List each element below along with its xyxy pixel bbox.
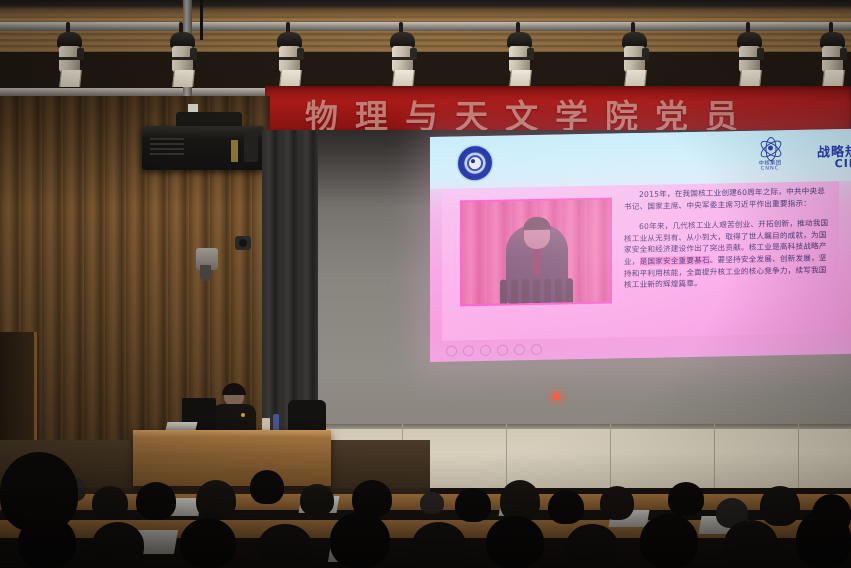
slide-paragraph-2: 60年来，几代核工业人艰苦创业、开拓创新，推动我国核工业从无到有、从小到大，取得… <box>624 217 832 291</box>
slide-slogan-en: CIN <box>835 157 851 170</box>
institution-seal-icon <box>458 146 492 181</box>
pointer-icon[interactable] <box>463 345 474 356</box>
ceiling-truss-upper <box>0 22 851 31</box>
ceiling-projector <box>142 126 264 170</box>
audience-member <box>600 486 634 520</box>
stage-light-icon <box>388 22 418 86</box>
stage-light-icon <box>620 22 650 86</box>
wall-camera-icon <box>196 248 218 270</box>
slide-surface: 中核集团 CNNC 战略规 CIN <box>430 129 851 362</box>
stage-light-icon <box>735 22 765 86</box>
slides-icon[interactable] <box>497 345 508 356</box>
audience-member <box>18 516 76 568</box>
water-bottle <box>273 414 279 431</box>
audience-member <box>548 490 584 524</box>
atom-logo-icon <box>759 136 781 158</box>
audience-member <box>724 520 778 568</box>
audience-member <box>412 522 466 568</box>
speaker-photo <box>460 198 612 307</box>
ptz-camera-icon <box>235 236 251 250</box>
stage-light-icon <box>275 22 305 86</box>
audience-member <box>796 510 851 568</box>
audience-member <box>180 518 236 568</box>
audience-member <box>196 480 236 520</box>
audience-member <box>668 482 704 516</box>
slide-text-block: 2015年，在我国核工业创建60周年之际，中共中央总书记、国家主席、中央军委主席… <box>624 185 832 300</box>
audience-member <box>92 522 144 568</box>
audience-member <box>760 486 800 526</box>
slide-body: 2015年，在我国核工业创建60周年之际，中共中央总书记、国家主席、中央军委主席… <box>442 181 839 341</box>
audience-member <box>330 512 390 568</box>
more-icon[interactable] <box>531 344 542 355</box>
auditorium-scene: 物理与天文学院党员 中核集团 CNNC 战略规 CIN <box>0 0 851 568</box>
stage-light-icon <box>55 22 85 86</box>
audience-member <box>300 484 334 516</box>
audience-member <box>136 482 176 520</box>
audience-member <box>566 524 618 568</box>
pen-icon[interactable] <box>446 345 457 356</box>
highlighter-icon[interactable] <box>480 345 491 356</box>
audience-member <box>486 516 544 568</box>
led-indicator-icon <box>553 393 560 400</box>
stage-light-icon <box>505 22 535 86</box>
ceiling <box>0 0 851 96</box>
cnnc-logo: 中核集团 CNNC <box>751 136 789 177</box>
presenter-table <box>133 430 331 486</box>
stage-light-icon <box>818 22 848 86</box>
cnnc-en-name: CNNC <box>751 165 789 172</box>
ceiling-cable <box>200 0 203 40</box>
audience-member <box>258 524 312 568</box>
zoom-icon[interactable] <box>514 344 525 355</box>
audience-member <box>92 486 128 520</box>
stage-light-icon <box>168 22 198 86</box>
audience-member <box>250 470 284 504</box>
slide-header: 中核集团 CNNC 战略规 CIN <box>430 129 851 189</box>
slide-paragraph-1: 2015年，在我国核工业创建60周年之际，中共中央总书记、国家主席、中央军委主席… <box>624 185 832 212</box>
audience-member <box>640 514 698 568</box>
projection-screen: 中核集团 CNNC 战略规 CIN <box>430 129 851 362</box>
audience-member <box>455 488 491 522</box>
audience-member <box>420 492 444 514</box>
presentation-toolbar[interactable] <box>446 344 542 357</box>
seated-presenter <box>212 385 256 435</box>
